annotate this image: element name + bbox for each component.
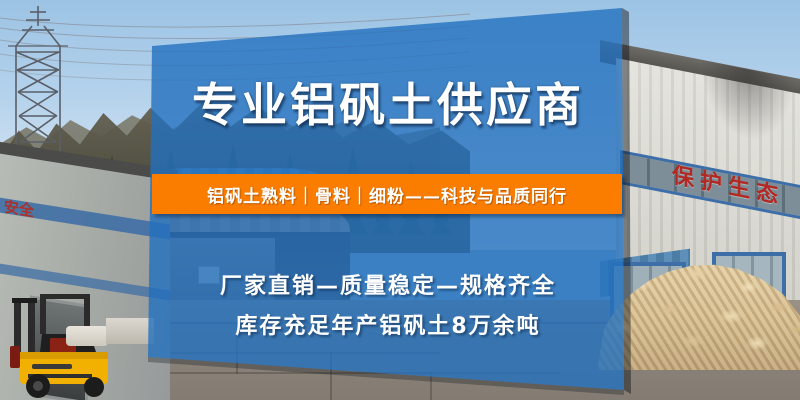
promo-banner: 保护生态 安全 — [0, 0, 800, 400]
forklift-icon — [6, 294, 122, 400]
banner-content: 专业铝矾土供应商 铝矾土熟料｜骨料｜细粉——科技与品质同行 厂家直销—质量稳定—… — [152, 0, 624, 400]
headline-text: 专业铝矾土供应商 — [152, 82, 624, 128]
ribbon-text: 铝矾土熟料｜骨料｜细粉——科技与品质同行 — [207, 182, 567, 207]
orange-ribbon: 铝矾土熟料｜骨料｜细粉——科技与品质同行 — [152, 174, 622, 214]
subline-1: 厂家直销—质量稳定—规格齐全 — [152, 268, 624, 300]
truck-bed — [106, 318, 154, 344]
subline-2: 库存充足年产铝矾土8万余吨 — [152, 308, 624, 340]
bulk-bags — [66, 326, 108, 346]
